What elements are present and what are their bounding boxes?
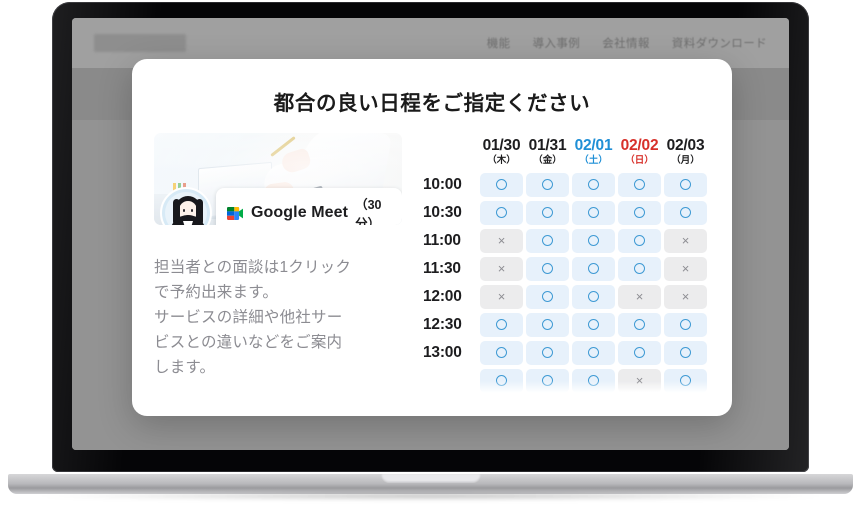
date-header-3: 02/02 （日） — [618, 137, 661, 169]
modal-columns: Google Meet （30分） 担当者との面談は1クリック で予約出来ます。… — [132, 133, 732, 397]
slot-available-icon — [542, 263, 553, 274]
schedule-slot: × — [664, 285, 707, 309]
schedule-slot[interactable] — [618, 313, 661, 337]
schedule-slot[interactable] — [572, 257, 615, 281]
schedule-slot[interactable] — [618, 201, 661, 225]
time-label: 10:00 — [423, 173, 477, 197]
booking-modal: 都合の良い日程をご指定ください — [132, 59, 732, 416]
slot-available-icon — [634, 207, 645, 218]
date-header-4: 02/03 （月） — [664, 137, 707, 169]
nav-item-downloads[interactable]: 資料ダウンロード — [672, 35, 767, 51]
schedule-table: 01/30 （木） 01/31 （金） 02/01 — [420, 133, 710, 397]
schedule-slot[interactable] — [572, 229, 615, 253]
date-header-2: 02/01 （土） — [572, 137, 615, 169]
meeting-thumbnail: Google Meet （30分） — [154, 133, 402, 225]
slot-unavailable-icon: × — [498, 291, 506, 302]
slot-available-icon — [588, 179, 599, 190]
schedule-slot[interactable] — [664, 313, 707, 337]
schedule-slot[interactable] — [480, 201, 523, 225]
schedule-row: 13:00 — [423, 341, 707, 365]
time-label: 13:00 — [423, 341, 477, 365]
slot-available-icon — [680, 375, 691, 386]
slot-available-icon — [542, 347, 553, 358]
schedule-slot[interactable] — [664, 173, 707, 197]
time-label: 10:30 — [423, 201, 477, 225]
slot-available-icon — [542, 207, 553, 218]
schedule-slot[interactable] — [618, 173, 661, 197]
schedule-slot[interactable] — [526, 369, 569, 393]
schedule-slot[interactable] — [572, 369, 615, 393]
time-label — [423, 369, 477, 393]
date-number: 01/30 — [480, 137, 523, 155]
slot-available-icon — [680, 347, 691, 358]
site-nav: 機能 導入事例 会社情報 資料ダウンロード — [487, 35, 775, 51]
schedule-slot[interactable] — [572, 313, 615, 337]
modal-left-column: Google Meet （30分） 担当者との面談は1クリック で予約出来ます。… — [154, 133, 402, 397]
schedule-slot[interactable] — [526, 313, 569, 337]
description-line: 担当者との面談は1クリック — [154, 255, 402, 280]
slot-available-icon — [588, 207, 599, 218]
nav-item-features[interactable]: 機能 — [487, 35, 511, 51]
slot-available-icon — [542, 375, 553, 386]
nav-item-company[interactable]: 会社情報 — [602, 35, 650, 51]
schedule-header-row: 01/30 （木） 01/31 （金） 02/01 — [423, 137, 707, 169]
schedule-slot[interactable] — [572, 173, 615, 197]
site-logo[interactable] — [94, 34, 186, 52]
date-header-0: 01/30 （木） — [480, 137, 523, 169]
slot-available-icon — [588, 263, 599, 274]
laptop-screen: 機能 導入事例 会社情報 資料ダウンロード 都合の良い日程をご指定ください — [72, 18, 789, 450]
time-label: 12:00 — [423, 285, 477, 309]
date-number: 02/01 — [572, 137, 615, 155]
schedule-slot: × — [480, 229, 523, 253]
description-line: ビスとの違いなどをご案内 — [154, 330, 402, 355]
schedule-slot: × — [480, 257, 523, 281]
schedule-row: 10:00 — [423, 173, 707, 197]
description-line: サービスの詳細や他社サー — [154, 305, 402, 330]
laptop-base-notch — [381, 474, 481, 483]
slot-available-icon — [496, 207, 507, 218]
date-dayofweek: （月） — [664, 155, 707, 167]
slot-available-icon — [588, 375, 599, 386]
slot-available-icon — [634, 263, 645, 274]
slot-available-icon — [542, 179, 553, 190]
schedule-slot[interactable] — [526, 257, 569, 281]
schedule-row: 11:30×× — [423, 257, 707, 281]
schedule-slot[interactable] — [480, 313, 523, 337]
slot-unavailable-icon: × — [682, 235, 690, 246]
time-label: 11:00 — [423, 229, 477, 253]
description-line: します。 — [154, 355, 402, 380]
schedule-row: 12:00××× — [423, 285, 707, 309]
google-meet-duration: （30分） — [355, 194, 389, 225]
date-dayofweek: （金） — [526, 155, 569, 167]
schedule-slot[interactable] — [572, 201, 615, 225]
schedule-slot[interactable] — [618, 229, 661, 253]
schedule-row: 11:00×× — [423, 229, 707, 253]
slot-unavailable-icon: × — [498, 235, 506, 246]
slot-available-icon — [588, 235, 599, 246]
laptop-shadow — [40, 492, 821, 500]
screenshot-root: 機能 導入事例 会社情報 資料ダウンロード 都合の良い日程をご指定ください — [0, 0, 861, 510]
slot-unavailable-icon: × — [498, 263, 506, 274]
date-number: 02/03 — [664, 137, 707, 155]
modal-right-column: 01/30 （木） 01/31 （金） 02/01 — [420, 133, 710, 397]
schedule-body: 10:0010:3011:00××11:30××12:00×××12:3013:… — [423, 173, 707, 393]
slot-available-icon — [634, 319, 645, 330]
slot-available-icon — [496, 347, 507, 358]
schedule-slot: × — [664, 257, 707, 281]
modal-description: 担当者との面談は1クリック で予約出来ます。 サービスの詳細や他社サー ビスとの… — [154, 255, 402, 381]
slot-unavailable-icon: × — [636, 291, 644, 302]
schedule-slot[interactable] — [526, 285, 569, 309]
nav-item-case-studies[interactable]: 導入事例 — [533, 35, 581, 51]
modal-title: 都合の良い日程をご指定ください — [132, 86, 732, 116]
schedule-slot[interactable] — [526, 201, 569, 225]
google-meet-badge: Google Meet （30分） — [216, 188, 402, 225]
date-header-1: 01/31 （金） — [526, 137, 569, 169]
slot-available-icon — [542, 291, 553, 302]
schedule-slot: × — [664, 229, 707, 253]
schedule-slot[interactable] — [480, 369, 523, 393]
slot-available-icon — [634, 235, 645, 246]
slot-available-icon — [680, 207, 691, 218]
slot-available-icon — [680, 319, 691, 330]
schedule-row: 10:30 — [423, 201, 707, 225]
time-label: 12:30 — [423, 313, 477, 337]
date-dayofweek: （木） — [480, 155, 523, 167]
slot-unavailable-icon: × — [636, 375, 644, 386]
slot-available-icon — [496, 319, 507, 330]
description-line: で予約出来ます。 — [154, 280, 402, 305]
schedule-slot[interactable] — [526, 341, 569, 365]
slot-available-icon — [634, 179, 645, 190]
slot-available-icon — [542, 235, 553, 246]
date-dayofweek: （土） — [572, 155, 615, 167]
schedule-slot[interactable] — [572, 341, 615, 365]
slot-available-icon — [496, 375, 507, 386]
schedule-slot: × — [618, 369, 661, 393]
schedule-slot[interactable] — [526, 229, 569, 253]
slot-available-icon — [588, 291, 599, 302]
date-dayofweek: （日） — [618, 155, 661, 167]
schedule-slot[interactable] — [480, 173, 523, 197]
slot-available-icon — [496, 179, 507, 190]
schedule-slot[interactable] — [526, 173, 569, 197]
google-meet-label: Google Meet — [251, 204, 348, 222]
schedule-slot[interactable] — [618, 341, 661, 365]
slot-available-icon — [680, 179, 691, 190]
slot-available-icon — [634, 347, 645, 358]
time-column-header — [423, 137, 477, 169]
google-meet-icon — [226, 206, 244, 221]
schedule-slot[interactable] — [664, 341, 707, 365]
slot-unavailable-icon: × — [682, 291, 690, 302]
schedule-row: × — [423, 369, 707, 393]
date-number: 02/02 — [618, 137, 661, 155]
date-number: 01/31 — [526, 137, 569, 155]
slot-unavailable-icon: × — [682, 263, 690, 274]
schedule-scroll-area[interactable]: 01/30 （木） 01/31 （金） 02/01 — [420, 133, 710, 397]
schedule-slot[interactable] — [664, 369, 707, 393]
schedule-slot: × — [618, 285, 661, 309]
schedule-slot[interactable] — [572, 285, 615, 309]
slot-available-icon — [542, 319, 553, 330]
schedule-slot[interactable] — [664, 201, 707, 225]
slot-available-icon — [588, 319, 599, 330]
schedule-slot[interactable] — [618, 257, 661, 281]
schedule-slot[interactable] — [480, 341, 523, 365]
schedule-row: 12:30 — [423, 313, 707, 337]
slot-available-icon — [588, 347, 599, 358]
time-label: 11:30 — [423, 257, 477, 281]
schedule-slot: × — [480, 285, 523, 309]
